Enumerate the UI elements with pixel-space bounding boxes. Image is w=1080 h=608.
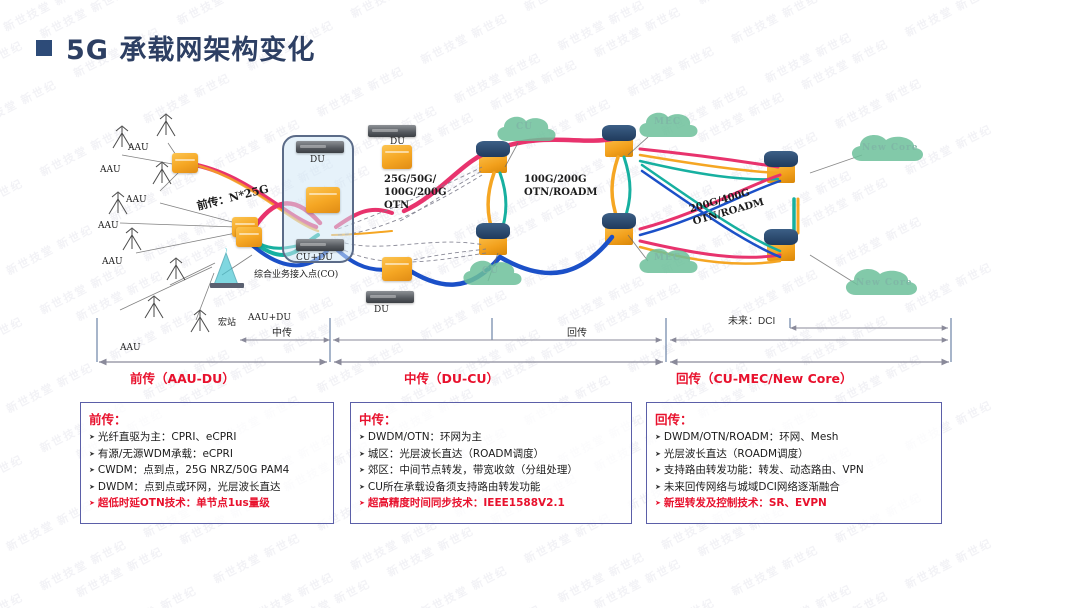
list-item: DWDM：点到点或环网，光层波长直达 (89, 480, 325, 497)
cloud-label-cu-bottom: CU (482, 266, 499, 276)
cloud-label-newcore-bottom: New Core (856, 278, 912, 288)
list-item: 城区：光层波长直达（ROADM调度） (359, 447, 623, 464)
backbone-rate-line-1: 100G/200G (524, 173, 597, 186)
du-label-upper: DU (390, 137, 405, 147)
detail-box-fronthaul-title: 前传： (89, 409, 325, 428)
co-box-label: 综合业务接入点(CO) (254, 267, 338, 280)
aau-label: AAU (98, 221, 119, 231)
metro-core-router-lower (602, 213, 636, 247)
list-item: DWDM/OTN：环网为主 (359, 430, 623, 447)
cloud-label-mec-bottom: MEC (654, 253, 681, 263)
aau-label: AAU (102, 257, 123, 267)
list-item: 光纤直驱为主：CPRI、eCPRI (89, 430, 325, 447)
detail-box-midhaul-title: 中传： (359, 409, 623, 428)
cu-du-server-co (296, 239, 344, 251)
list-item: 郊区：中间节点转发，带宽收敛（分组处理） (359, 463, 623, 480)
list-item: 超低时延OTN技术：单节点1us量级 (89, 496, 325, 513)
aau-label: AAU (100, 165, 121, 175)
backbone-rate-line-2: OTN/ROADM (524, 186, 597, 199)
list-item: 有源/无源WDM承载：eCPRI (89, 447, 325, 464)
aau-label: AAU (128, 143, 149, 153)
aggregation-router-lower (476, 223, 510, 257)
cloud-label-newcore-top: New Core (862, 143, 918, 153)
access-switch-node (172, 153, 198, 173)
list-item: 超高精度时间同步技术：IEEE1588V2.1 (359, 496, 623, 513)
detail-box-fronthaul: 前传： 光纤直驱为主：CPRI、eCPRI 有源/无源WDM承载：eCPRI C… (80, 402, 334, 524)
backbone-rate-label: 100G/200G OTN/ROADM (524, 173, 597, 199)
backbone-core-router-upper (764, 151, 798, 185)
segment-label-fronthaul: 前传（AAU-DU） (130, 368, 235, 387)
cloud-label-cu-top: CU (516, 122, 533, 132)
list-item: 新型转发及控制技术：SR、EVPN (655, 496, 933, 513)
aau-tower-icon (140, 291, 168, 321)
detail-box-backhaul-title: 回传： (655, 409, 933, 428)
midhaul-rate-line-3: OTN (384, 199, 446, 212)
du-label-co: DU (310, 155, 325, 165)
aau-tower-icon (152, 109, 180, 139)
aau-label: AAU (126, 195, 147, 205)
du-label-lower: DU (374, 305, 389, 315)
list-item: DWDM/OTN/ROADM：环网、Mesh (655, 430, 933, 447)
list-item: CU所在承载设备须支持路由转发功能 (359, 480, 623, 497)
detail-box-backhaul-list: DWDM/OTN/ROADM：环网、Mesh 光层波长直达（ROADM调度） 支… (655, 430, 933, 513)
macro-station-icon (200, 245, 252, 293)
du-switch-lower (382, 257, 412, 281)
du-server-upper (368, 125, 416, 137)
metro-core-router-upper (602, 125, 636, 159)
detail-box-midhaul-list: DWDM/OTN：环网为主 城区：光层波长直达（ROADM调度） 郊区：中间节点… (359, 430, 623, 513)
list-item: 光层波长直达（ROADM调度） (655, 447, 933, 464)
cloud-label-mec-top: MEC (654, 117, 681, 127)
page-title-text: 5G 承载网架构变化 (66, 28, 315, 67)
midhaul-rate-label: 25G/50G/ 100G/200G OTN (384, 173, 446, 212)
midhaul-rate-line-2: 100G/200G (384, 186, 446, 199)
segment-scale-band: 中传 回传 未来：DCI 前传（AAU-DU） 中传（DU-CU） 回传（CU-… (0, 318, 1080, 398)
mini-label-midhaul: 中传 (272, 324, 292, 339)
du-server-co (296, 141, 344, 153)
detail-box-fronthaul-list: 光纤直驱为主：CPRI、eCPRI 有源/无源WDM承载：eCPRI CWDM：… (89, 430, 325, 513)
segment-label-midhaul: 中传（DU-CU） (404, 368, 499, 387)
aau-tower-icon (162, 253, 190, 283)
detail-box-backhaul: 回传： DWDM/OTN/ROADM：环网、Mesh 光层波长直达（ROADM调… (646, 402, 942, 524)
access-switch-node (236, 227, 262, 247)
segment-label-backhaul: 回传（CU-MEC/New Core） (676, 368, 852, 387)
detail-box-midhaul: 中传： DWDM/OTN：环网为主 城区：光层波长直达（ROADM调度） 郊区：… (350, 402, 632, 524)
cu-du-label-co: CU+DU (296, 253, 333, 263)
aau-tower-icon (118, 223, 146, 253)
list-item: 支持路由转发功能：转发、动态路由、VPN (655, 463, 933, 480)
backbone-core-router-lower (764, 229, 798, 263)
mini-label-backhaul: 回传 (567, 324, 587, 339)
square-bullet-icon (36, 40, 52, 56)
mini-label-future-dci: 未来：DCI (728, 312, 775, 327)
list-item: 未来回传网络与城域DCI网络逐渐融合 (655, 480, 933, 497)
co-aggregation-switch (306, 187, 340, 213)
page-title: 5G 承载网架构变化 (36, 28, 315, 67)
midhaul-rate-line-1: 25G/50G/ (384, 173, 446, 186)
du-server-lower (366, 291, 414, 303)
list-item: CWDM：点到点，25G NRZ/50G PAM4 (89, 463, 325, 480)
du-switch-upper (382, 145, 412, 169)
